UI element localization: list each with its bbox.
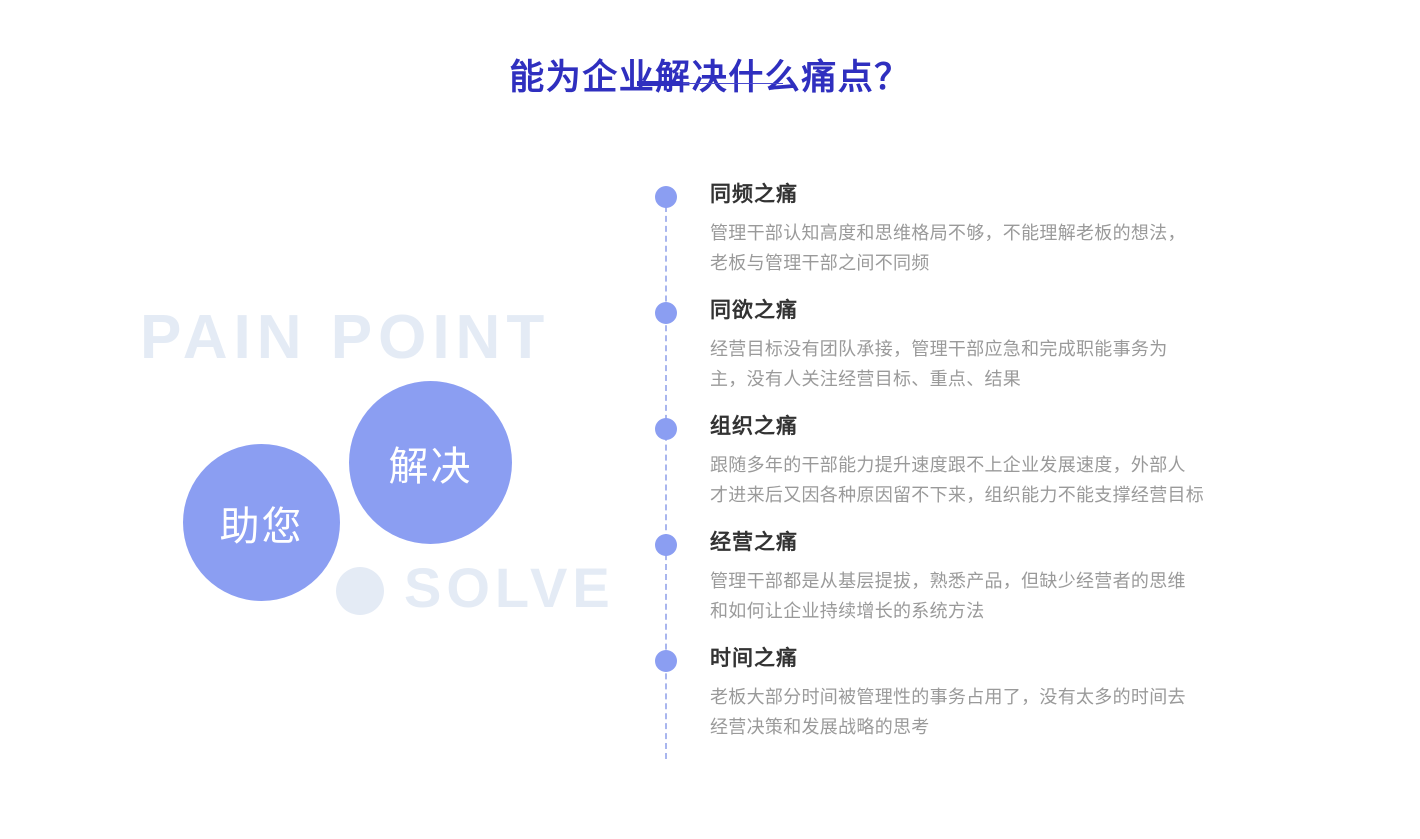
bubble-help: 助您 <box>183 444 340 601</box>
list-item-description: 管理干部都是从基层提拔，熟悉产品，但缺少经营者的思维 和如何让企业持续增长的系统… <box>710 567 1310 626</box>
list-item: 同欲之痛 经营目标没有团队承接，管理干部应急和完成职能事务为 主，没有人关注经营… <box>655 298 1375 398</box>
list-item-description: 经营目标没有团队承接，管理干部应急和完成职能事务为 主，没有人关注经营目标、重点… <box>710 335 1310 394</box>
description-line: 管理干部都是从基层提拔，熟悉产品，但缺少经营者的思维 <box>710 567 1310 597</box>
description-line: 老板与管理干部之间不同频 <box>710 249 1310 279</box>
timeline-dot-icon <box>655 302 677 324</box>
list-item: 经营之痛 管理干部都是从基层提拔，熟悉产品，但缺少经营者的思维 和如何让企业持续… <box>655 530 1375 630</box>
list-item-description: 跟随多年的干部能力提升速度跟不上企业发展速度，外部人 才进来后又因各种原因留不下… <box>710 451 1310 510</box>
list-item: 同频之痛 管理干部认知高度和思维格局不够，不能理解老板的想法， 老板与管理干部之… <box>655 182 1375 282</box>
ghost-text-solve: SOLVE <box>404 560 615 616</box>
timeline-dot-icon <box>655 534 677 556</box>
title-divider <box>637 80 783 88</box>
timeline-dot-icon <box>655 418 677 440</box>
ghost-text-pain-point: PAIN POINT <box>140 307 550 369</box>
description-line: 管理干部认知高度和思维格局不够，不能理解老板的想法， <box>710 219 1310 249</box>
divider-thin-segment <box>683 83 783 84</box>
list-item: 时间之痛 老板大部分时间被管理性的事务占用了，没有太多的时间去 经营决策和发展战… <box>655 646 1375 746</box>
list-item: 组织之痛 跟随多年的干部能力提升速度跟不上企业发展速度，外部人 才进来后又因各种… <box>655 414 1375 514</box>
list-item-heading: 组织之痛 <box>710 414 1375 440</box>
list-item-description: 老板大部分时间被管理性的事务占用了，没有太多的时间去 经营决策和发展战略的思考 <box>710 683 1310 742</box>
timeline-dot-icon <box>655 650 677 672</box>
list-item-heading: 经营之痛 <box>710 530 1375 556</box>
pain-point-timeline: 同频之痛 管理干部认知高度和思维格局不够，不能理解老板的想法， 老板与管理干部之… <box>655 182 1375 746</box>
description-line: 跟随多年的干部能力提升速度跟不上企业发展速度，外部人 <box>710 451 1310 481</box>
description-line: 经营目标没有团队承接，管理干部应急和完成职能事务为 <box>710 335 1310 365</box>
description-line: 经营决策和发展战略的思考 <box>710 713 1310 743</box>
description-line: 和如何让企业持续增长的系统方法 <box>710 597 1310 627</box>
list-item-description: 管理干部认知高度和思维格局不够，不能理解老板的想法， 老板与管理干部之间不同频 <box>710 219 1310 278</box>
list-item-heading: 同欲之痛 <box>710 298 1375 324</box>
divider-thick-segment <box>637 81 683 86</box>
ghost-circle-decoration <box>336 567 384 615</box>
pain-point-graphic: PAIN POINT SOLVE 助您 解决 <box>0 0 640 839</box>
description-line: 主，没有人关注经营目标、重点、结果 <box>710 365 1310 395</box>
description-line: 老板大部分时间被管理性的事务占用了，没有太多的时间去 <box>710 683 1310 713</box>
bubble-solve: 解决 <box>349 381 512 544</box>
timeline-dot-icon <box>655 186 677 208</box>
list-item-heading: 同频之痛 <box>710 182 1375 208</box>
description-line: 才进来后又因各种原因留不下来，组织能力不能支撑经营目标 <box>710 481 1310 511</box>
list-item-heading: 时间之痛 <box>710 646 1375 672</box>
